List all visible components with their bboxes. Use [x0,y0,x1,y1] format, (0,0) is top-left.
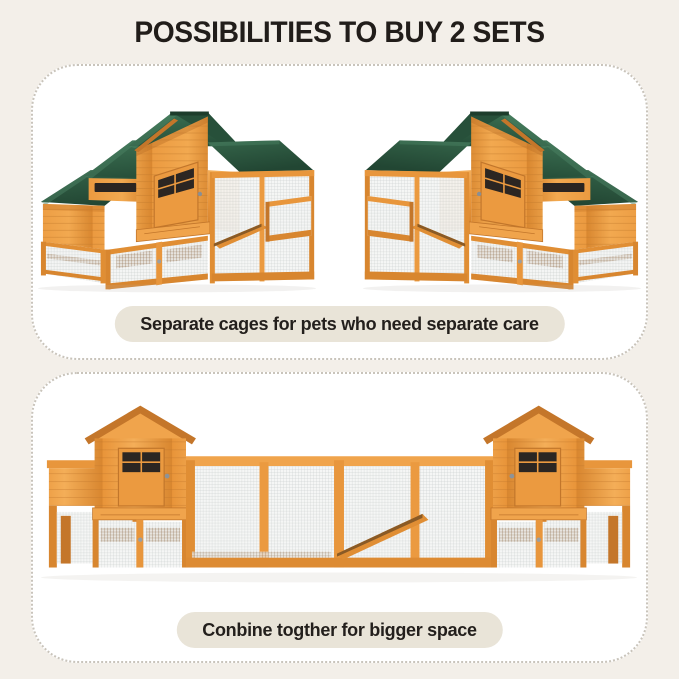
combined-right-door [509,448,560,506]
wire-run-right-unit [365,170,469,283]
caption-combined-space: Conbine togther for bigger space [176,612,502,648]
coop-unit-right [363,112,641,293]
panel-combined-space: Conbine togther for bigger space [31,372,648,663]
product-photo-separate [33,84,646,299]
product-photo-combined [33,394,646,594]
wire-run-left-unit [210,170,314,283]
combined-coops-illustration [33,394,646,594]
poster-canvas: POSSIBILITIES TO BUY 2 SETS [0,0,679,679]
separate-coops-illustration [33,84,646,299]
panel-separate-cages: Separate cages for pets who need separat… [31,64,648,360]
combined-house-left [47,406,196,568]
page-title: POSSIBILITIES TO BUY 2 SETS [20,16,658,50]
caption-separate-cages: Separate cages for pets who need separat… [114,306,564,342]
shared-wire-run [186,456,494,567]
combined-left-door [118,448,169,506]
combined-house-right [483,406,632,568]
coop-unit-left [38,112,316,293]
